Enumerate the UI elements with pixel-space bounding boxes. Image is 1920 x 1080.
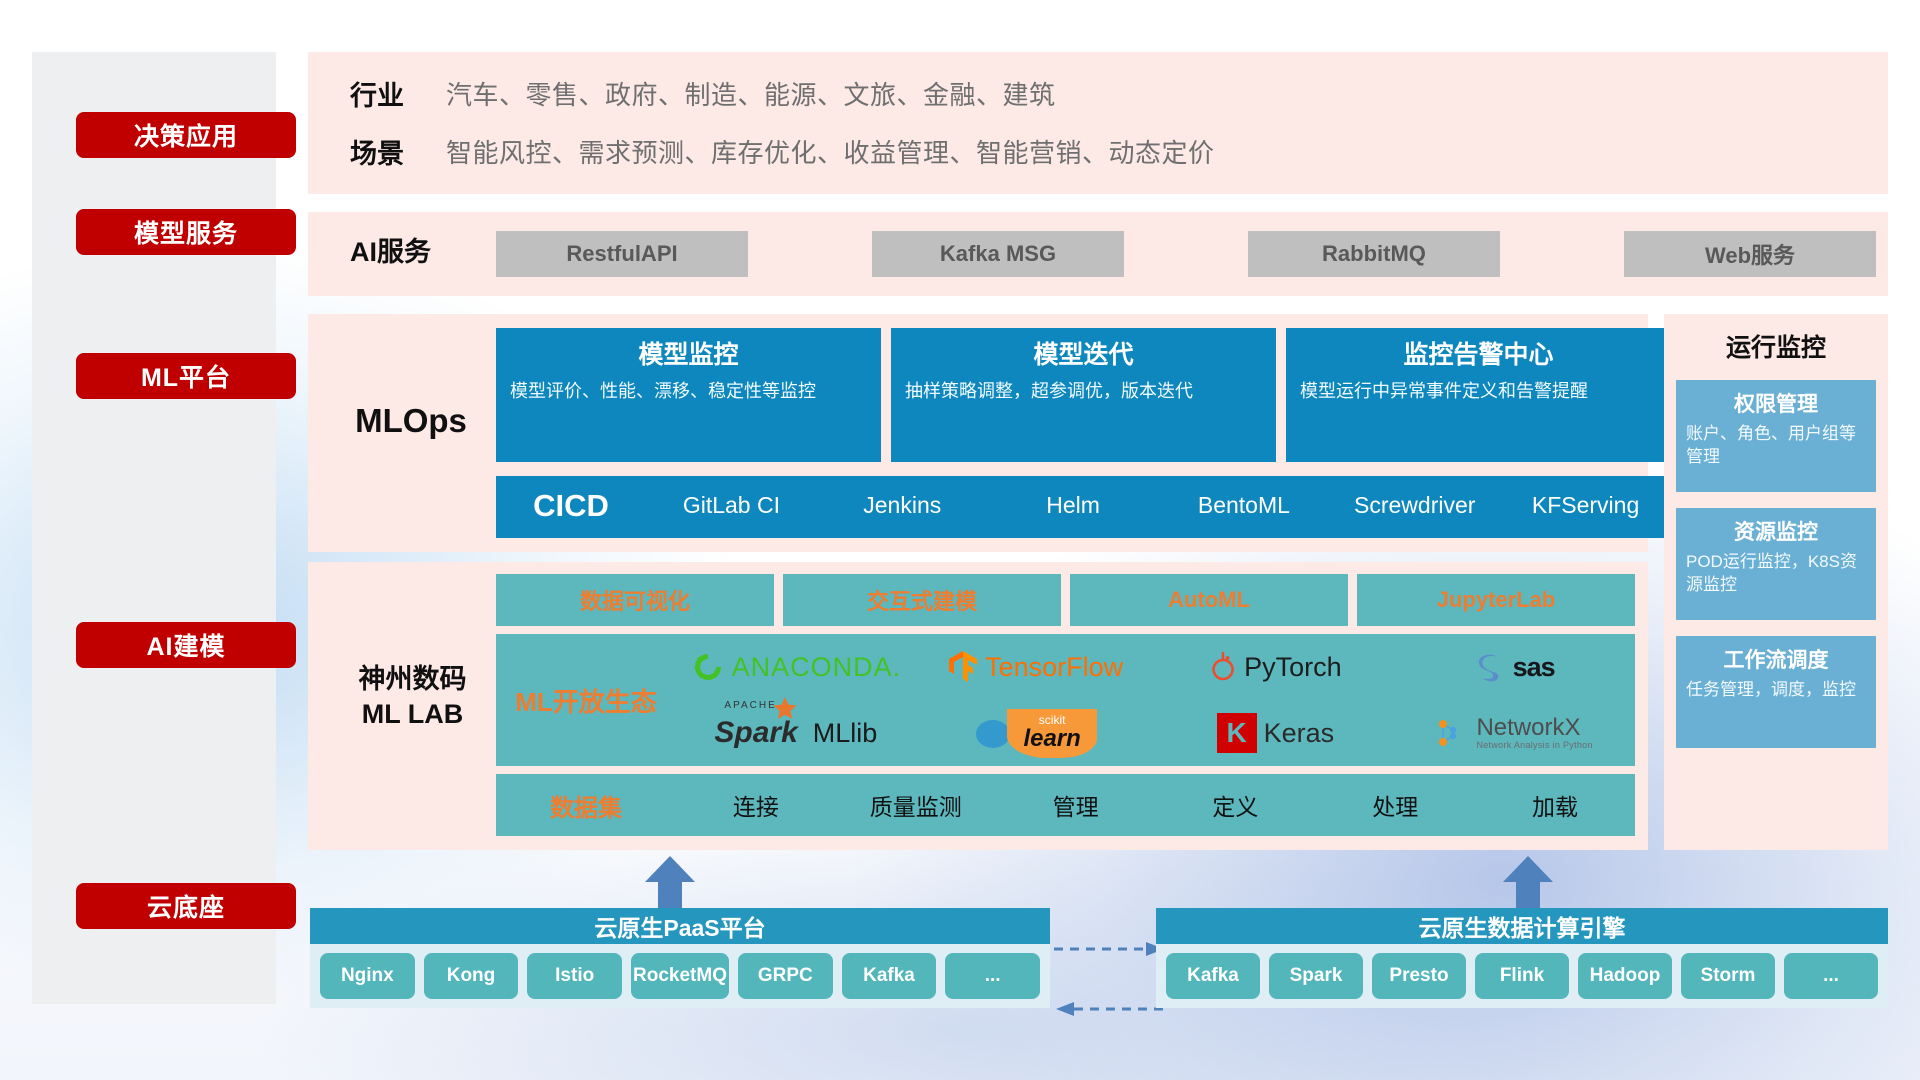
dataset-cell-define[interactable]: 定义 <box>1155 788 1315 822</box>
service-chip-label: Kafka MSG <box>940 241 1056 267</box>
modeling-layer-panel: 神州数码 ML LAB 数据可视化 交互式建模 AutoML JupyterLa… <box>308 562 1648 850</box>
dataset-band: 数据集 连接 质量监测 管理 定义 处理 加载 <box>496 774 1635 836</box>
ai-service-label: AI服务 <box>350 230 431 269</box>
cicd-tool-kfserving[interactable]: KFServing <box>1500 476 1671 518</box>
ml-ecosystem-band: ML开放生态 ANACONDA. <box>496 634 1635 766</box>
keras-mark: K <box>1226 717 1246 749</box>
architecture-diagram: 决策应用 模型服务 ML平台 AI建模 云底座 行业 汽车、零售、政府、制造、能… <box>0 0 1920 1080</box>
cicd-tool-screwdriver[interactable]: Screwdriver <box>1329 476 1500 518</box>
rail-item-ml-platform[interactable]: ML平台 <box>76 353 296 399</box>
dataset-cell-process[interactable]: 处理 <box>1315 788 1475 822</box>
keras-wordmark: Keras <box>1264 718 1335 749</box>
cicd-tool-gitlab-ci[interactable]: GitLab CI <box>646 476 817 518</box>
service-chip-web-service[interactable]: Web服务 <box>1624 231 1876 277</box>
rail-item-cloud-base[interactable]: 云底座 <box>76 883 296 929</box>
monitoring-card-permission[interactable]: 权限管理 账户、角色、用户组等管理 <box>1676 380 1876 492</box>
card-title: 模型监控 <box>510 340 867 371</box>
compute-chip-kafka[interactable]: Kafka <box>1166 953 1260 999</box>
tensorflow-logo: TensorFlow <box>948 650 1123 684</box>
networkx-tagline: Network Analysis in Python <box>1476 740 1592 750</box>
card-title: 模型迭代 <box>905 340 1262 371</box>
industry-label: 行业 <box>350 74 404 113</box>
paas-chip-istio[interactable]: Istio <box>527 953 622 999</box>
paas-chip-nginx[interactable]: Nginx <box>320 953 415 999</box>
compute-chip-storm[interactable]: Storm <box>1681 953 1775 999</box>
learn-wordmark: learn <box>1023 727 1080 751</box>
paas-chip-row: Nginx Kong Istio RocketMQ GRPC Kafka ... <box>310 944 1050 1008</box>
cicd-bar[interactable]: CICD GitLab CI Jenkins Helm BentoML Scre… <box>496 476 1671 538</box>
pytorch-logo: PyTorch <box>1209 650 1342 684</box>
spark-mllib-logo: APACHE Spark MLlib <box>714 716 877 750</box>
service-chip-label: Web服务 <box>1705 238 1795 270</box>
service-chip-label: RabbitMQ <box>1322 241 1426 267</box>
paas-chip-grpc[interactable]: GRPC <box>738 953 833 999</box>
monitoring-card-resource[interactable]: 资源监控 POD运行监控，K8S资源监控 <box>1676 508 1876 620</box>
anaconda-logo: ANACONDA. <box>691 650 902 684</box>
compute-chip-presto[interactable]: Presto <box>1372 953 1466 999</box>
monitoring-card-workflow[interactable]: 工作流调度 任务管理，调度，监控 <box>1676 636 1876 748</box>
service-chip-rabbitmq[interactable]: RabbitMQ <box>1248 231 1500 277</box>
rail-item-decision-app[interactable]: 决策应用 <box>76 112 296 158</box>
rail-item-ai-modeling[interactable]: AI建模 <box>76 622 296 668</box>
tab-label: 交互式建模 <box>867 584 977 616</box>
card-title: 监控告警中心 <box>1300 340 1657 371</box>
card-desc: 账户、角色、用户组等管理 <box>1686 423 1866 469</box>
keras-logo: K Keras <box>1217 713 1335 753</box>
dataset-cell-load[interactable]: 加载 <box>1475 788 1635 822</box>
spark-star-icon <box>772 696 798 722</box>
compute-header: 云原生数据计算引擎 <box>1156 908 1888 944</box>
dashed-arrow-left-icon <box>1054 1000 1166 1018</box>
sas-logo: sas <box>1476 651 1555 683</box>
paas-header: 云原生PaaS平台 <box>310 908 1050 944</box>
card-desc: 模型运行中异常事件定义和告警提醒 <box>1300 379 1657 403</box>
card-desc: 模型评价、性能、漂移、稳定性等监控 <box>510 379 867 403</box>
paas-chip-more[interactable]: ... <box>945 953 1040 999</box>
mlops-card-model-iteration[interactable]: 模型迭代 抽样策略调整，超参调优，版本迭代 <box>891 328 1276 462</box>
tab-label: 数据可视化 <box>580 584 690 616</box>
mlops-label: MLOps <box>336 402 486 440</box>
cloud-base-paas-group: 云原生PaaS平台 Nginx Kong Istio RocketMQ GRPC… <box>310 908 1050 1008</box>
rail-label: 模型服务 <box>134 214 238 250</box>
networkx-icon <box>1437 716 1469 750</box>
networkx-wordmark: NetworkX <box>1476 716 1580 740</box>
card-desc: 任务管理，调度，监控 <box>1686 679 1866 702</box>
ml-lab-label: 神州数码 ML LAB <box>330 662 495 732</box>
card-title: 资源监控 <box>1686 516 1866 546</box>
rail-label: AI建模 <box>146 627 225 663</box>
anaconda-icon <box>691 650 725 684</box>
industry-value: 汽车、零售、政府、制造、能源、文旅、金融、建筑 <box>446 75 1056 112</box>
cicd-label: CICD <box>496 476 646 524</box>
mlops-card-model-monitoring[interactable]: 模型监控 模型评价、性能、漂移、稳定性等监控 <box>496 328 881 462</box>
pytorch-wordmark: PyTorch <box>1244 652 1342 683</box>
rail-item-model-service[interactable]: 模型服务 <box>76 209 296 255</box>
tab-jupyterlab[interactable]: JupyterLab <box>1357 574 1635 626</box>
cicd-tool-helm[interactable]: Helm <box>988 476 1159 518</box>
tensorflow-wordmark: TensorFlow <box>985 652 1123 683</box>
sas-wordmark: sas <box>1513 652 1555 683</box>
compute-chip-hadoop[interactable]: Hadoop <box>1578 953 1672 999</box>
dataset-cell-connect[interactable]: 连接 <box>676 788 836 822</box>
spark-apache-text: APACHE <box>724 700 776 711</box>
ecosystem-logo-grid: ANACONDA. TensorFlow PyTorch <box>676 634 1635 766</box>
cicd-tool-bentoml[interactable]: BentoML <box>1158 476 1329 518</box>
card-title: 权限管理 <box>1686 388 1866 418</box>
paas-chip-kong[interactable]: Kong <box>424 953 519 999</box>
rail-label: 云底座 <box>147 888 225 924</box>
paas-chip-rocketmq[interactable]: RocketMQ <box>631 953 729 999</box>
networkx-logo: NetworkX Network Analysis in Python <box>1437 716 1592 750</box>
mllib-wordmark: MLlib <box>813 718 878 749</box>
tab-interactive-modeling[interactable]: 交互式建模 <box>783 574 1061 626</box>
tensorflow-icon <box>948 650 978 684</box>
paas-up-arrow-icon <box>640 856 700 910</box>
tab-data-visualization[interactable]: 数据可视化 <box>496 574 774 626</box>
layer-rail: 决策应用 模型服务 ML平台 AI建模 云底座 <box>32 52 276 1004</box>
compute-up-arrow-icon <box>1498 856 1558 910</box>
ml-lab-label-line2: ML LAB <box>330 697 495 732</box>
compute-chip-row: Kafka Spark Presto Flink Hadoop Storm ..… <box>1156 944 1888 1008</box>
mlops-card-alert-center[interactable]: 监控告警中心 模型运行中异常事件定义和告警提醒 <box>1286 328 1671 462</box>
dataset-cell-quality-monitor[interactable]: 质量监测 <box>836 788 996 822</box>
dashed-arrow-right-icon <box>1054 940 1166 958</box>
rail-label: 决策应用 <box>134 117 238 153</box>
compute-chip-spark[interactable]: Spark <box>1269 953 1363 999</box>
ml-lab-label-line1: 神州数码 <box>330 662 495 697</box>
compute-chip-flink[interactable]: Flink <box>1475 953 1569 999</box>
scikit-learn-logo: scikit learn <box>974 709 1096 758</box>
scikit-text: scikit <box>1023 714 1080 726</box>
pytorch-icon <box>1209 650 1237 684</box>
sas-icon <box>1476 651 1506 683</box>
tab-automl[interactable]: AutoML <box>1070 574 1348 626</box>
ecosystem-title: ML开放生态 <box>496 682 676 719</box>
card-title: 工作流调度 <box>1686 644 1866 674</box>
cicd-tool-jenkins[interactable]: Jenkins <box>817 476 988 518</box>
mlops-layer-panel: MLOps 模型监控 模型评价、性能、漂移、稳定性等监控 模型迭代 抽样策略调整… <box>308 314 1648 552</box>
scenario-value: 智能风控、需求预测、库存优化、收益管理、智能营销、动态定价 <box>446 133 1215 170</box>
scenario-label: 场景 <box>350 132 404 171</box>
cloud-base-compute-group: 云原生数据计算引擎 Kafka Spark Presto Flink Hadoo… <box>1156 908 1888 1008</box>
dataset-label: 数据集 <box>496 788 676 823</box>
card-desc: POD运行监控，K8S资源监控 <box>1686 551 1866 597</box>
paas-chip-kafka[interactable]: Kafka <box>842 953 937 999</box>
service-chip-restfulapi[interactable]: RestfulAPI <box>496 231 748 277</box>
anaconda-wordmark: ANACONDA. <box>732 652 902 683</box>
service-layer-panel: AI服务 RestfulAPI Kafka MSG RabbitMQ Web服务 <box>308 212 1888 296</box>
card-desc: 抽样策略调整，超参调优，版本迭代 <box>905 379 1262 403</box>
service-chip-kafka-msg[interactable]: Kafka MSG <box>872 231 1124 277</box>
compute-chip-more[interactable]: ... <box>1784 953 1878 999</box>
dataset-cell-manage[interactable]: 管理 <box>996 788 1156 822</box>
rail-label: ML平台 <box>141 358 231 394</box>
tab-label: JupyterLab <box>1437 587 1556 613</box>
runtime-monitoring-panel: 运行监控 权限管理 账户、角色、用户组等管理 资源监控 POD运行监控，K8S资… <box>1664 314 1888 850</box>
monitoring-title: 运行监控 <box>1664 328 1888 364</box>
application-layer-panel: 行业 汽车、零售、政府、制造、能源、文旅、金融、建筑 场景 智能风控、需求预测、… <box>308 52 1888 194</box>
tab-label: AutoML <box>1168 587 1250 613</box>
service-chip-label: RestfulAPI <box>566 241 677 267</box>
